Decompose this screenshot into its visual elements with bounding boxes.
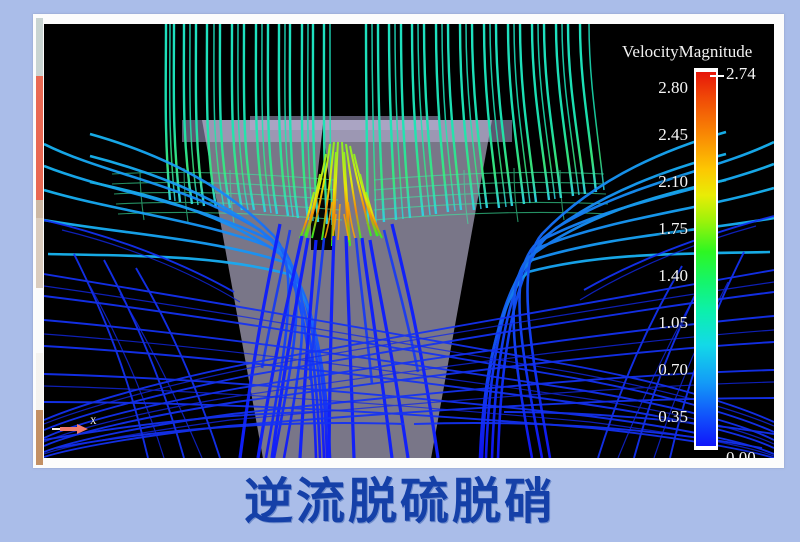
- scalar-bar-tick-6: 0.70: [658, 360, 688, 380]
- scalar-bar-gradient: [696, 72, 716, 446]
- screenshot-root: X VelocityMagnitude 2.80 2.45 2.10 1.75 …: [0, 0, 800, 542]
- scalar-bar-tick-1: 2.45: [658, 125, 688, 145]
- arrow-right-icon: [50, 416, 110, 442]
- scalar-bar-max-label: 2.74: [726, 64, 756, 84]
- inlet-streamline-group: [166, 24, 596, 226]
- scalar-bar-tick-3: 1.75: [658, 219, 688, 239]
- axis-x-label: X: [90, 416, 97, 426]
- axis-triad: X: [50, 416, 110, 442]
- scalar-bar[interactable]: VelocityMagnitude 2.80 2.45 2.10 1.75 1.…: [648, 34, 772, 458]
- scalar-bar-swatch[interactable]: [694, 68, 718, 450]
- scalar-bar-tick-0: 2.80: [658, 78, 688, 98]
- render-viewport[interactable]: X VelocityMagnitude 2.80 2.45 2.10 1.75 …: [44, 24, 774, 458]
- scalar-bar-tick-7: 0.35: [658, 407, 688, 427]
- figure-caption: 逆流脱硫脱硝: [0, 471, 800, 533]
- scalar-bar-tick-4: 1.40: [658, 266, 688, 286]
- nozzle-core-streamline-group: [300, 142, 382, 246]
- scalar-bar-title: VelocityMagnitude: [622, 42, 752, 62]
- scalar-bar-min-label: 0.00: [726, 448, 756, 458]
- scalar-bar-tick-2: 2.10: [658, 172, 688, 192]
- scalar-bar-max-mark: [710, 75, 724, 77]
- nozzle-core-hot-streaks: [325, 202, 355, 240]
- scalar-bar-tick-8: 0.00: [658, 454, 688, 458]
- scalar-bar-tick-5: 1.05: [658, 313, 688, 333]
- window-edge-strip: [36, 18, 43, 465]
